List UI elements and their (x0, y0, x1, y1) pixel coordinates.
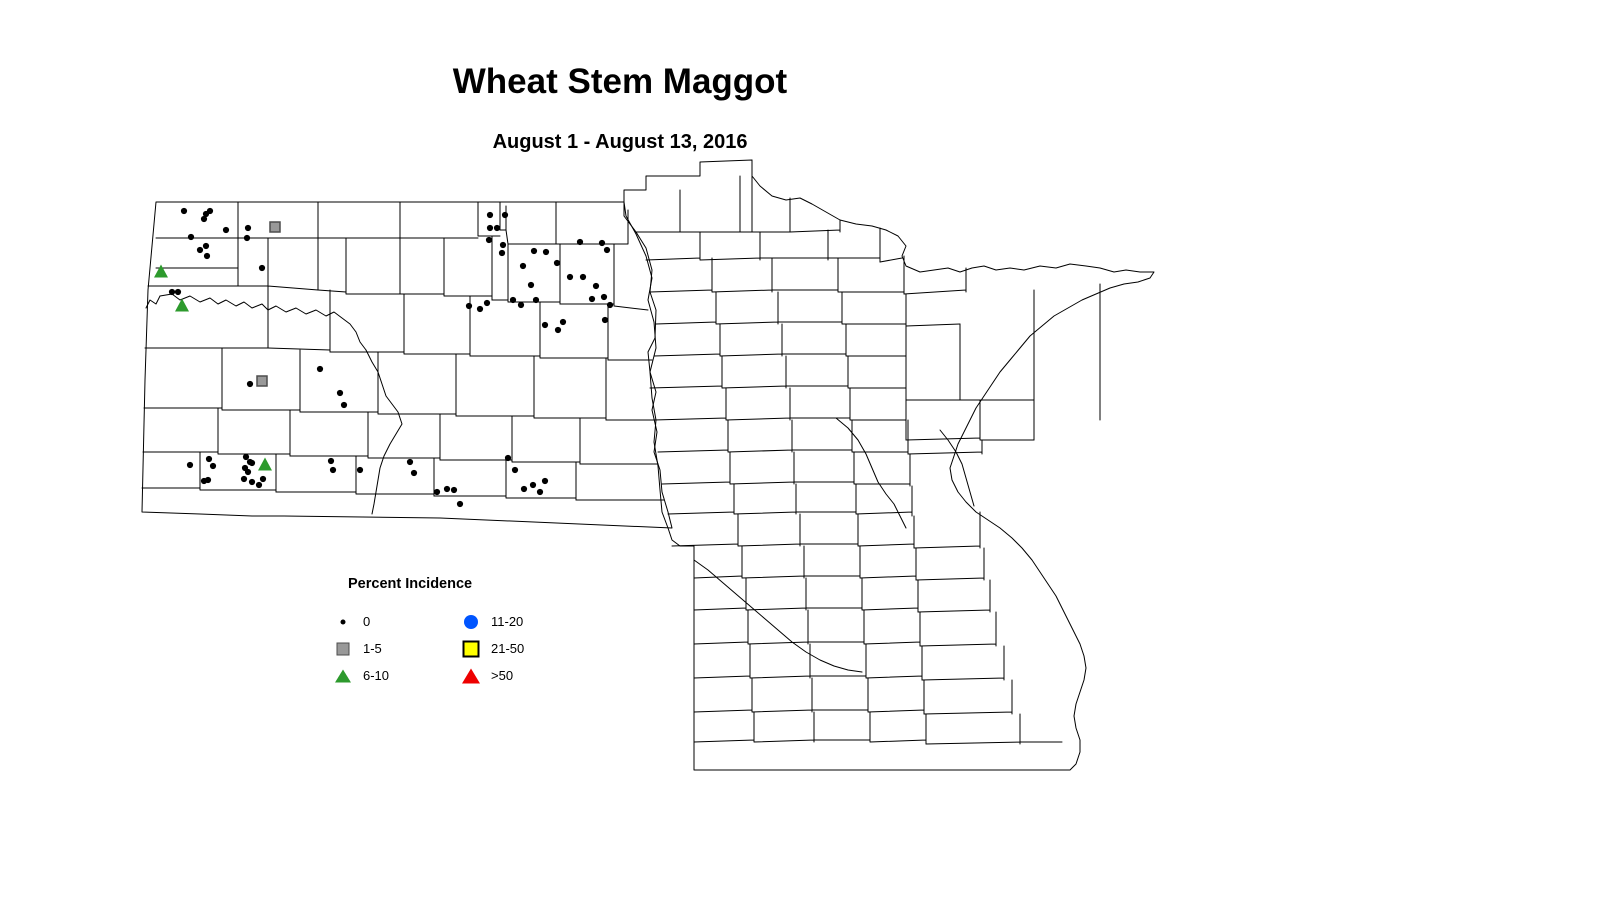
map-marker-dot[interactable] (241, 476, 247, 482)
map-marker-dot[interactable] (607, 302, 613, 308)
map-marker-square[interactable] (257, 376, 267, 386)
map-marker-dot[interactable] (357, 467, 363, 473)
map-marker-dot[interactable] (487, 212, 493, 218)
map-marker-dot[interactable] (245, 469, 251, 475)
map-marker-dot[interactable] (484, 300, 490, 306)
map-marker-dot[interactable] (407, 459, 413, 465)
map-marker-dot[interactable] (555, 327, 561, 333)
map-marker-dot[interactable] (243, 454, 249, 460)
map-marker-dot[interactable] (260, 476, 266, 482)
map-marker-dot[interactable] (542, 322, 548, 328)
map-graphic[interactable] (0, 0, 1612, 900)
map-marker-dot[interactable] (341, 402, 347, 408)
map-marker-dot[interactable] (577, 239, 583, 245)
map-marker-dot[interactable] (602, 317, 608, 323)
legend: Percent Incidence 0 1-5 6-10 11-20 (330, 570, 590, 705)
map-marker-dot[interactable] (247, 381, 253, 387)
map-marker-triangle[interactable] (154, 265, 168, 278)
map-marker-dot[interactable] (210, 463, 216, 469)
map-marker-dot[interactable] (245, 225, 251, 231)
map-marker-dot[interactable] (487, 225, 493, 231)
legend-label-4: 21-50 (491, 641, 524, 656)
map-marker-dot[interactable] (207, 208, 213, 214)
map-marker-dot[interactable] (502, 212, 508, 218)
map-marker-dot[interactable] (505, 455, 511, 461)
legend-label-5: >50 (491, 668, 513, 683)
map-marker-dot[interactable] (554, 260, 560, 266)
map-marker-dot[interactable] (500, 242, 506, 248)
map-marker-dot[interactable] (510, 297, 516, 303)
map-marker-dot[interactable] (256, 482, 262, 488)
map-marker-dot[interactable] (560, 319, 566, 325)
map-marker-dot[interactable] (457, 501, 463, 507)
map-marker-dot[interactable] (188, 234, 194, 240)
map-marker-dot[interactable] (494, 225, 500, 231)
green-triangle-icon (330, 666, 356, 686)
map-marker-dot[interactable] (451, 487, 457, 493)
county-boundaries (142, 160, 1154, 770)
map-marker-dot[interactable] (205, 477, 211, 483)
map-marker-dot[interactable] (530, 482, 536, 488)
map-marker-dot[interactable] (580, 274, 586, 280)
red-triangle-icon (458, 666, 484, 686)
map-marker-dot[interactable] (537, 489, 543, 495)
map-marker-dot[interactable] (499, 250, 505, 256)
map-marker-dot[interactable] (244, 235, 250, 241)
map-marker-triangle[interactable] (175, 299, 189, 312)
map-marker-dot[interactable] (599, 240, 605, 246)
map-marker-dot[interactable] (197, 247, 203, 253)
map-marker-dot[interactable] (521, 486, 527, 492)
map-marker-dot[interactable] (328, 458, 334, 464)
map-marker-dot[interactable] (203, 243, 209, 249)
map-marker-dot[interactable] (187, 462, 193, 468)
map-marker-dot[interactable] (204, 253, 210, 259)
map-marker-dot[interactable] (531, 248, 537, 254)
legend-label-1: 1-5 (363, 641, 382, 656)
map-marker-dot[interactable] (512, 467, 518, 473)
gray-square-icon (330, 639, 356, 659)
map-marker-dot[interactable] (477, 306, 483, 312)
legend-label-0: 0 (363, 614, 370, 629)
legend-label-3: 11-20 (491, 614, 523, 629)
map-marker-dot[interactable] (181, 208, 187, 214)
map-marker-dot[interactable] (589, 296, 595, 302)
map-marker-dot[interactable] (466, 303, 472, 309)
map-marker-dot[interactable] (259, 265, 265, 271)
map-marker-dot[interactable] (175, 289, 181, 295)
blue-circle-icon (458, 612, 484, 632)
map-marker-dot[interactable] (518, 302, 524, 308)
map-marker-dot[interactable] (201, 216, 207, 222)
map-canvas[interactable] (0, 0, 1612, 900)
map-marker-dot[interactable] (444, 486, 450, 492)
map-page: Wheat Stem Maggot August 1 - August 13, … (0, 0, 1612, 900)
map-marker-dot[interactable] (601, 294, 607, 300)
map-marker-dot[interactable] (533, 297, 539, 303)
map-marker-dot[interactable] (593, 283, 599, 289)
map-marker-dot[interactable] (520, 263, 526, 269)
map-marker-dot[interactable] (411, 470, 417, 476)
map-marker-square[interactable] (270, 222, 280, 232)
map-marker-dot[interactable] (223, 227, 229, 233)
map-marker-dot[interactable] (434, 489, 440, 495)
legend-label-2: 6-10 (363, 668, 389, 683)
map-marker-dot[interactable] (337, 390, 343, 396)
map-marker-dot[interactable] (206, 456, 212, 462)
map-marker-dot[interactable] (486, 237, 492, 243)
map-marker-dot[interactable] (249, 460, 255, 466)
legend-title: Percent Incidence (348, 576, 472, 592)
map-marker-dot[interactable] (604, 247, 610, 253)
map-marker-dot[interactable] (169, 289, 175, 295)
yellow-square-icon (458, 639, 484, 659)
map-marker-dot[interactable] (542, 478, 548, 484)
map-marker-triangle[interactable] (258, 458, 272, 471)
small-black-dot-icon (330, 612, 356, 632)
map-marker-dot[interactable] (317, 366, 323, 372)
map-marker-dot[interactable] (528, 282, 534, 288)
map-marker-dot[interactable] (543, 249, 549, 255)
map-marker-dot[interactable] (567, 274, 573, 280)
map-marker-dot[interactable] (249, 479, 255, 485)
map-marker-dot[interactable] (330, 467, 336, 473)
